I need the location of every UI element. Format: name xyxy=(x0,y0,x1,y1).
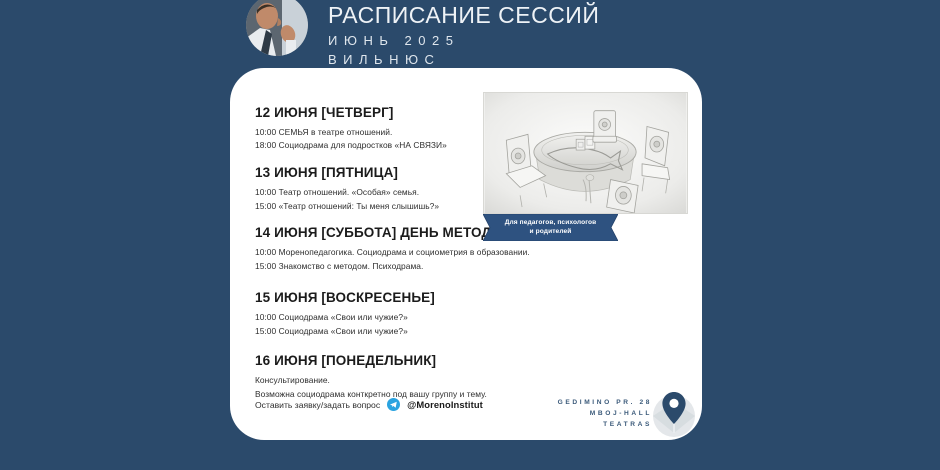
schedule-day: 15 ИЮНЯ [ВОСКРЕСЕНЬЕ] 10:00 Социодрама «… xyxy=(255,291,585,338)
day-weekday: [ЧЕТВЕРГ] xyxy=(321,105,393,120)
header-text-group: РАСПИСАНИЕ СЕССИЙ ИЮНЬ 2025 ВИЛЬНЮС xyxy=(328,0,599,68)
session-line: 15:00 Знакомство с методом. Психодрама. xyxy=(255,260,585,274)
day-heading: 16 ИЮНЯ [ПОНЕДЕЛЬНИК] xyxy=(255,354,585,369)
day-date: 12 ИЮНЯ xyxy=(255,105,318,120)
poster-header: РАСПИСАНИЕ СЕССИЙ ИЮНЬ 2025 ВИЛЬНЮС xyxy=(246,0,686,70)
audience-badge-text: Для педагогов, психологов и родителей xyxy=(483,214,618,241)
day-weekday: [ВОСКРЕСЕНЬЕ] xyxy=(321,290,434,305)
round-table-chairs-sketch xyxy=(483,92,688,214)
day-weekday: [ПЯТНИЦА] xyxy=(321,165,398,180)
address-lines: GEDIMINO PR. 28 MBOJ-HALL TEATRAS xyxy=(558,398,652,431)
address-line-3: TEATRAS xyxy=(558,420,652,431)
address-block: GEDIMINO PR. 28 MBOJ-HALL TEATRAS xyxy=(520,394,700,440)
badge-line-2: и родителей xyxy=(530,228,572,237)
day-date: 15 ИЮНЯ xyxy=(255,290,318,305)
address-line-1: GEDIMINO PR. 28 xyxy=(558,398,652,409)
schedule-card: 12 ИЮНЯ [ЧЕТВЕРГ] 10:00 СЕМЬЯ в театре о… xyxy=(230,68,702,440)
session-line: Консультирование. xyxy=(255,374,585,388)
audience-badge: Для педагогов, психологов и родителей xyxy=(483,214,618,241)
day-date: 16 ИЮНЯ xyxy=(255,353,318,368)
day-weekday: [СУББОТА] xyxy=(321,225,396,240)
header-month-year: ИЮНЬ 2025 xyxy=(328,33,599,50)
header-city: ВИЛЬНЮС xyxy=(328,52,599,69)
page-title: РАСПИСАНИЕ СЕССИЙ xyxy=(328,4,599,27)
day-date: 14 ИЮНЯ xyxy=(255,225,318,240)
session-line: 15:00 Социодрама «Свои или чужие?» xyxy=(255,325,585,339)
contact-label: Оставить заявку/задать вопрос xyxy=(255,400,380,410)
day-heading: 15 ИЮНЯ [ВОСКРЕСЕНЬЕ] xyxy=(255,291,585,306)
session-line: 10:00 Социодрама «Свои или чужие?» xyxy=(255,311,585,325)
address-line-2: MBOJ-HALL xyxy=(558,409,652,420)
map-pin-icon xyxy=(648,388,700,440)
day-date: 13 ИЮНЯ xyxy=(255,165,318,180)
avatar xyxy=(246,0,308,56)
session-line: 10:00 Моренопедагогика. Социодрама и соц… xyxy=(255,246,585,260)
contact-row[interactable]: Оставить заявку/задать вопрос @MorenoIns… xyxy=(255,398,483,411)
telegram-icon[interactable] xyxy=(387,398,400,411)
day-weekday: [ПОНЕДЕЛЬНИК] xyxy=(321,353,436,368)
badge-line-1: Для педагогов, психологов xyxy=(505,219,597,228)
poster-root: РАСПИСАНИЕ СЕССИЙ ИЮНЬ 2025 ВИЛЬНЮС 12 И… xyxy=(0,0,940,470)
telegram-handle[interactable]: @MorenoInstitut xyxy=(407,399,483,410)
